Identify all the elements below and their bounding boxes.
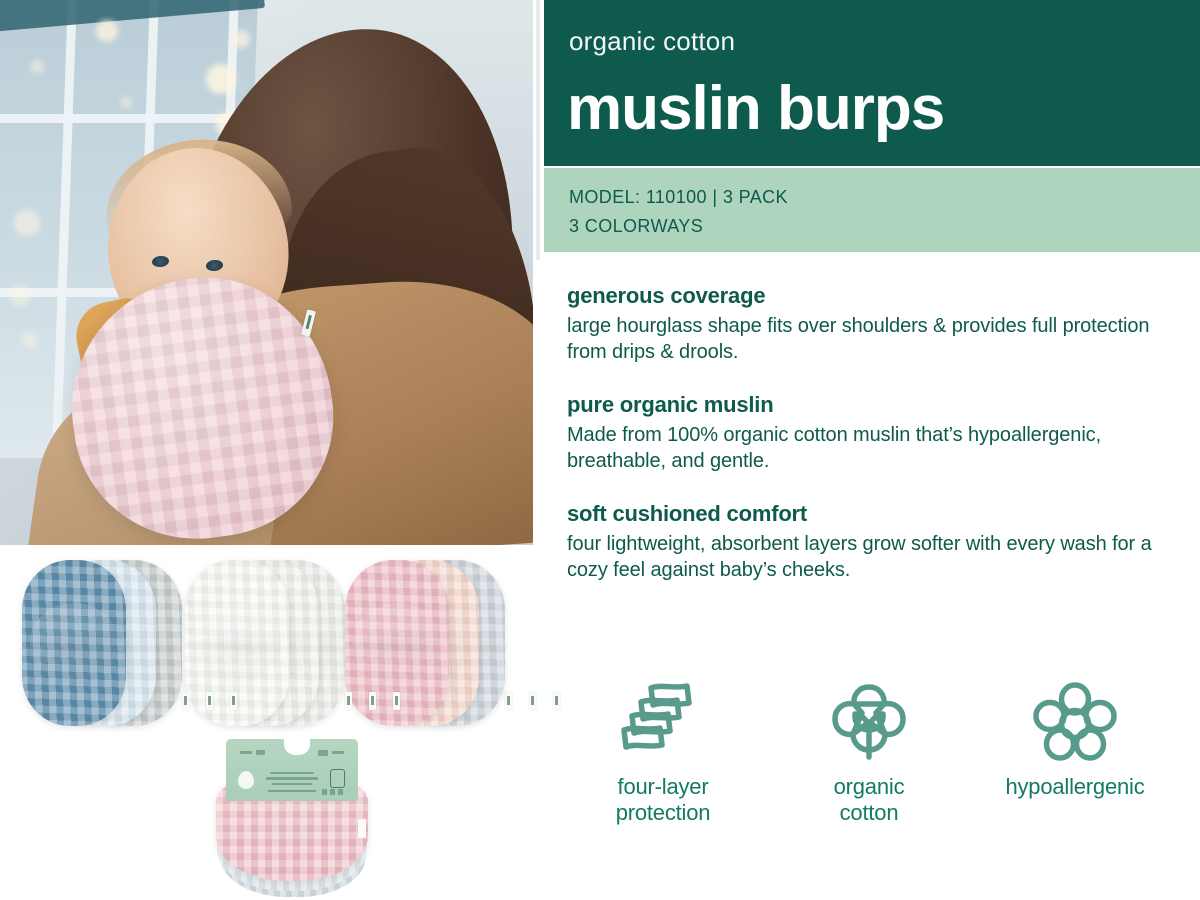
feature-heading: generous coverage: [567, 283, 1187, 309]
stacked-layers-icon: [617, 676, 709, 768]
care-tag: [345, 692, 352, 710]
benefit-label: organic cotton: [834, 774, 905, 827]
benefit-label: four-layer protection: [616, 774, 711, 827]
feature-soft-cushioned-comfort: soft cushioned comfort four lightweight,…: [567, 501, 1187, 584]
care-tag: [206, 692, 213, 710]
colorway-swatches: [0, 552, 540, 732]
white-burp-cloth: [185, 560, 289, 726]
feature-generous-coverage: generous coverage large hourglass shape …: [567, 283, 1187, 366]
colorways-line: 3 COLORWAYS: [569, 216, 703, 237]
care-tag: [505, 692, 512, 710]
care-tag: [529, 692, 536, 710]
header-kicker: organic cotton: [569, 26, 735, 57]
benefit-four-layer-protection: four-layer protection: [560, 676, 766, 827]
steel-blue-burp-cloth: [22, 560, 126, 726]
benefit-hypoallergenic: hypoallergenic: [972, 676, 1178, 800]
flower-icon: [1033, 676, 1117, 768]
benefit-organic-cotton: organic cotton: [766, 676, 972, 827]
care-tag: [230, 692, 237, 710]
feature-body: large hourglass shape fits over shoulder…: [567, 313, 1187, 366]
cotton-boll-icon: [827, 676, 911, 768]
colorway-blue: [22, 552, 197, 732]
care-tag: [369, 692, 376, 710]
care-tag: [182, 692, 189, 710]
care-tag: [393, 692, 400, 710]
left-column: [0, 0, 540, 900]
page-title: muslin burps: [567, 78, 944, 140]
header-banner: organic cotton muslin burps: [544, 0, 1200, 166]
hang-tab-notch: [284, 738, 310, 755]
model-line: MODEL: 110100 | 3 PACK: [569, 187, 788, 208]
feature-pure-organic-muslin: pure organic muslin Made from 100% organ…: [567, 392, 1187, 475]
packaged-product: [214, 735, 374, 900]
brand-logo-icon: [238, 771, 254, 789]
care-tag: [358, 819, 366, 838]
feature-heading: pure organic muslin: [567, 392, 1187, 418]
care-tag: [553, 692, 560, 710]
benefit-icons-row: four-layer protection organic cotton: [560, 676, 1180, 856]
model-info-band: MODEL: 110100 | 3 PACK 3 COLORWAYS: [544, 168, 1200, 252]
product-infographic: organic cotton muslin burps MODEL: 11010…: [0, 0, 1200, 900]
benefit-label: hypoallergenic: [1005, 774, 1144, 800]
feature-list: generous coverage large hourglass shape …: [567, 283, 1187, 609]
feature-body: four lightweight, absorbent layers grow …: [567, 531, 1187, 584]
certification-badge-icon: [330, 769, 345, 788]
feature-body: Made from 100% organic cotton muslin tha…: [567, 422, 1187, 475]
hero-lifestyle-photo: [0, 0, 533, 545]
feature-heading: soft cushioned comfort: [567, 501, 1187, 527]
package-header-card: [226, 739, 358, 801]
